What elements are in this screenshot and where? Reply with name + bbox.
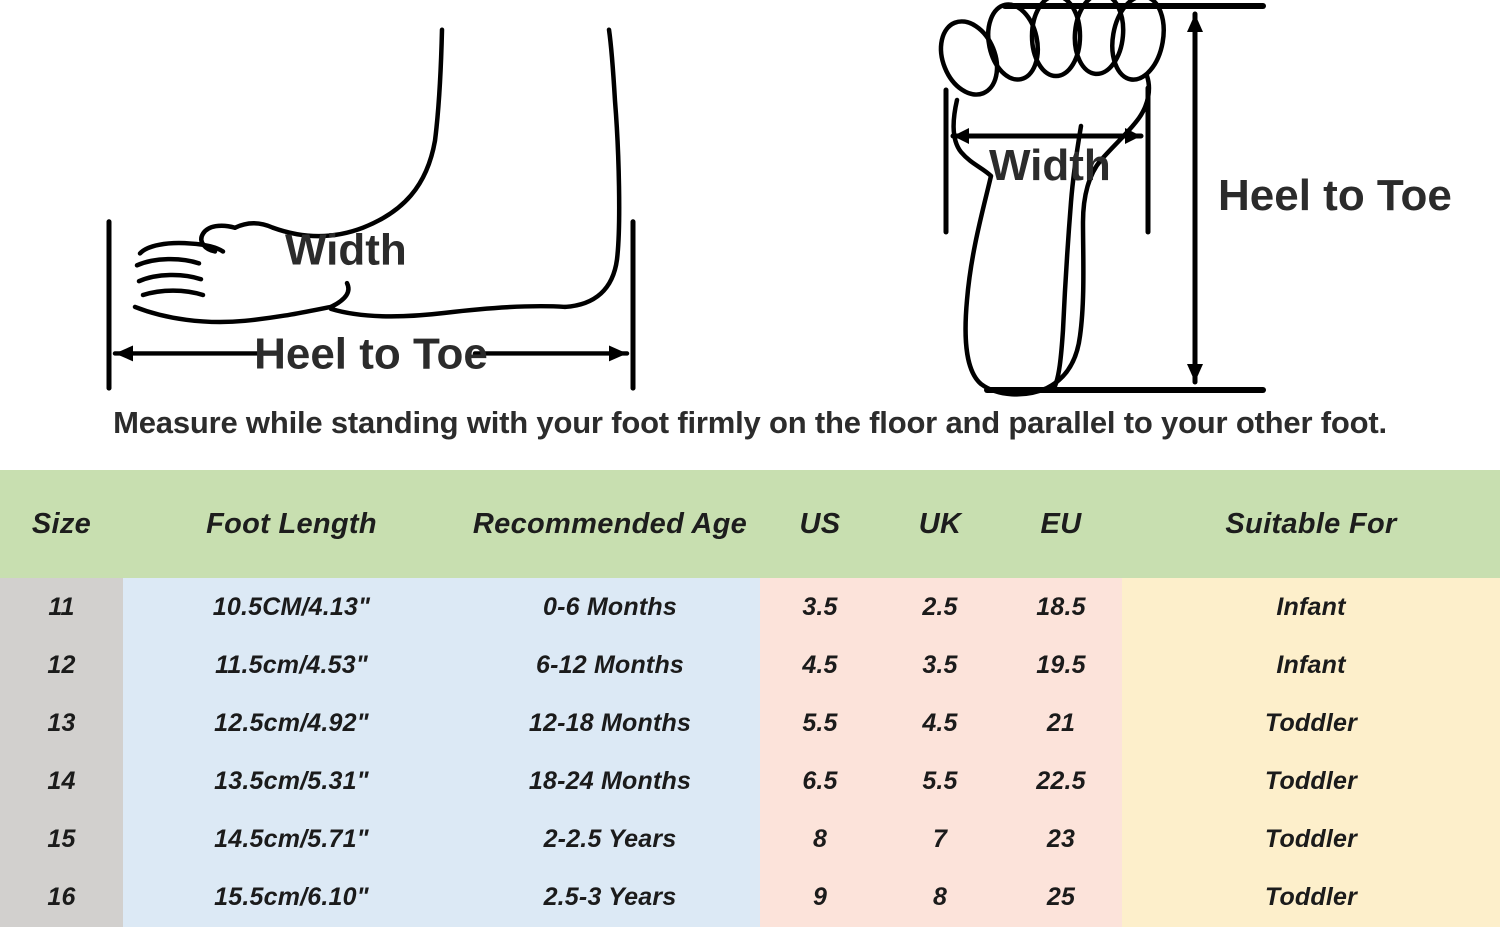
- cell-age: 6-12 Months: [460, 636, 760, 694]
- table-body: 11 10.5CM/4.13" 0-6 Months 3.5 2.5 18.5 …: [0, 578, 1500, 927]
- foot-sole-view-icon: Width Heel to Toe: [905, 0, 1465, 400]
- cell-size: 13: [0, 694, 123, 752]
- table-row: 16 15.5cm/6.10" 2.5-3 Years 9 8 25 Toddl…: [0, 869, 1500, 927]
- measurement-diagram-area: Width Heel to Toe: [0, 0, 1500, 470]
- cell-size: 16: [0, 869, 123, 927]
- cell-us: 6.5: [760, 752, 880, 810]
- table-row: 14 13.5cm/5.31" 18-24 Months 6.5 5.5 22.…: [0, 752, 1500, 810]
- cell-suitable-for: Toddler: [1122, 811, 1500, 869]
- cell-uk: 3.5: [880, 636, 1000, 694]
- cell-size: 12: [0, 636, 123, 694]
- column-header-foot-length: Foot Length: [123, 470, 460, 578]
- size-chart-page: Width Heel to Toe: [0, 0, 1500, 927]
- cell-age: 2.5-3 Years: [460, 869, 760, 927]
- foot-side-view-diagram: Width Heel to Toe: [95, 2, 655, 398]
- cell-age: 0-6 Months: [460, 578, 760, 636]
- cell-size: 15: [0, 811, 123, 869]
- sole-view-width-label: Width: [989, 141, 1111, 190]
- sole-view-length-label: Heel to Toe: [1218, 171, 1452, 220]
- cell-us: 8: [760, 811, 880, 869]
- cell-us: 9: [760, 869, 880, 927]
- foot-sole-view-diagram: Width Heel to Toe: [905, 0, 1465, 400]
- cell-suitable-for: Infant: [1122, 636, 1500, 694]
- cell-suitable-for: Infant: [1122, 578, 1500, 636]
- cell-uk: 5.5: [880, 752, 1000, 810]
- cell-suitable-for: Toddler: [1122, 694, 1500, 752]
- table-header: Size Foot Length Recommended Age US UK E…: [0, 470, 1500, 578]
- table-row: 13 12.5cm/4.92" 12-18 Months 5.5 4.5 21 …: [0, 694, 1500, 752]
- cell-uk: 7: [880, 811, 1000, 869]
- cell-us: 4.5: [760, 636, 880, 694]
- column-header-us: US: [760, 470, 880, 578]
- cell-foot-length: 12.5cm/4.92": [123, 694, 460, 752]
- column-header-eu: EU: [1000, 470, 1122, 578]
- cell-suitable-for: Toddler: [1122, 869, 1500, 927]
- table-row: 15 14.5cm/5.71" 2-2.5 Years 8 7 23 Toddl…: [0, 811, 1500, 869]
- column-header-suitable-for: Suitable For: [1122, 470, 1500, 578]
- foot-side-view-icon: Width Heel to Toe: [95, 2, 655, 398]
- cell-foot-length: 14.5cm/5.71": [123, 811, 460, 869]
- table-row: 12 11.5cm/4.53" 6-12 Months 4.5 3.5 19.5…: [0, 636, 1500, 694]
- cell-eu: 22.5: [1000, 752, 1122, 810]
- side-view-width-label: Width: [285, 226, 407, 275]
- cell-age: 2-2.5 Years: [460, 811, 760, 869]
- cell-suitable-for: Toddler: [1122, 752, 1500, 810]
- measurement-instruction-text: Measure while standing with your foot fi…: [0, 405, 1500, 441]
- cell-uk: 4.5: [880, 694, 1000, 752]
- cell-uk: 8: [880, 869, 1000, 927]
- cell-us: 5.5: [760, 694, 880, 752]
- cell-foot-length: 11.5cm/4.53": [123, 636, 460, 694]
- table-row: 11 10.5CM/4.13" 0-6 Months 3.5 2.5 18.5 …: [0, 578, 1500, 636]
- column-header-size: Size: [0, 470, 123, 578]
- side-view-length-label: Heel to Toe: [254, 329, 488, 378]
- cell-size: 11: [0, 578, 123, 636]
- cell-foot-length: 10.5CM/4.13": [123, 578, 460, 636]
- cell-age: 18-24 Months: [460, 752, 760, 810]
- cell-foot-length: 13.5cm/5.31": [123, 752, 460, 810]
- cell-eu: 18.5: [1000, 578, 1122, 636]
- cell-us: 3.5: [760, 578, 880, 636]
- column-header-age: Recommended Age: [460, 470, 760, 578]
- cell-eu: 19.5: [1000, 636, 1122, 694]
- column-header-uk: UK: [880, 470, 1000, 578]
- cell-eu: 23: [1000, 811, 1122, 869]
- cell-age: 12-18 Months: [460, 694, 760, 752]
- table-header-row: Size Foot Length Recommended Age US UK E…: [0, 470, 1500, 578]
- cell-eu: 21: [1000, 694, 1122, 752]
- cell-size: 14: [0, 752, 123, 810]
- cell-eu: 25: [1000, 869, 1122, 927]
- size-chart-table: Size Foot Length Recommended Age US UK E…: [0, 470, 1500, 927]
- cell-foot-length: 15.5cm/6.10": [123, 869, 460, 927]
- cell-uk: 2.5: [880, 578, 1000, 636]
